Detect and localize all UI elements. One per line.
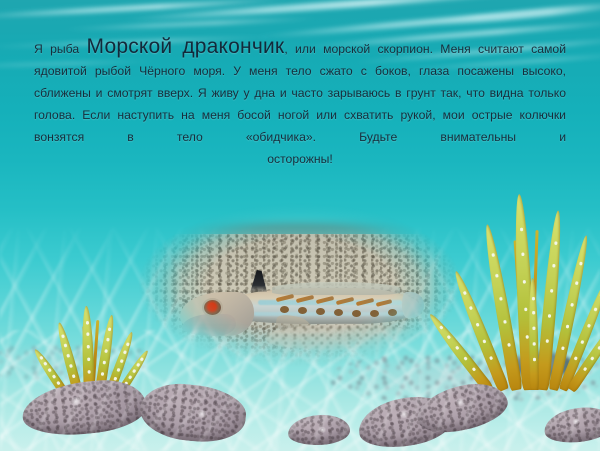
fish-blotch [316,308,325,315]
photo-bottom-sheen [128,328,472,374]
fish-blotch [298,307,307,314]
fish-blotch [334,309,343,316]
fish-eye [204,300,221,315]
stone-3 [287,413,350,446]
stone-glint [571,418,581,425]
plant-blade [528,278,539,390]
fish-photograph [128,196,472,374]
stone-glint [454,397,467,407]
fish-blotch [280,306,289,313]
light-streak [60,16,320,31]
stone-6 [542,403,600,446]
stone-glint [318,427,327,433]
page-title: Морской дракончик [87,35,285,58]
description-text-block: Я рыба Морской дракончик, или морской ск… [34,36,566,170]
stone-shimmer [137,380,248,447]
stone-glint [398,409,410,419]
closing-line: осторожны! [34,148,566,170]
plant-right [470,178,590,390]
stone-1 [20,376,149,441]
fish-blotch [352,310,361,317]
stone-2 [137,380,248,447]
stone-glint [69,396,83,406]
fish-dorsal-fin-soft [272,282,400,295]
stone-shimmer [542,403,600,446]
stone-glint [196,409,209,418]
fish-dorsal-fin-venomous [248,270,270,292]
intro-text: Я рыба [34,42,87,56]
stone-shimmer [20,376,149,441]
slide-canvas: Я рыба Морской дракончик, или морской ск… [0,0,600,451]
fish-blotch [370,310,379,317]
fish-blue-stripe [254,312,404,316]
fish-blotch [388,309,397,316]
description-paragraph: Я рыба Морской дракончик, или морской ск… [34,36,566,148]
